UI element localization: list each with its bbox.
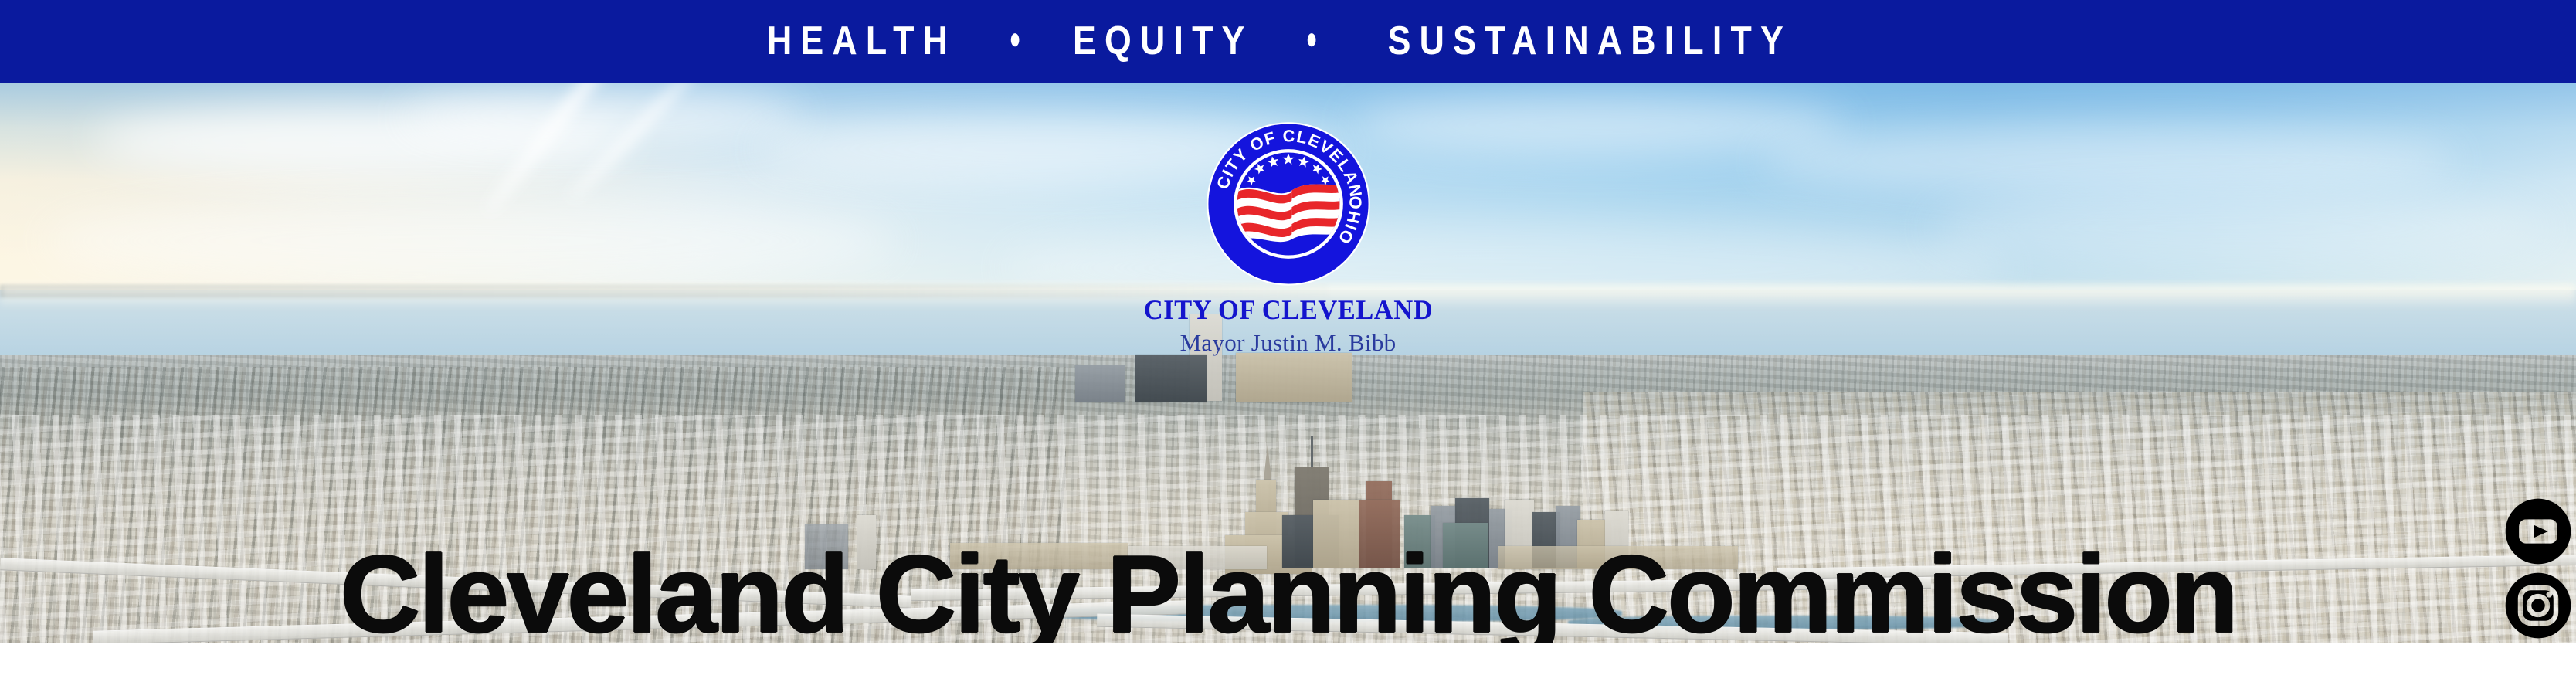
social-links-rail — [2500, 496, 2576, 643]
youtube-icon[interactable] — [2503, 496, 2574, 567]
hero-photo: CITY OF CLEVELAND OHIO — [0, 83, 2576, 643]
instagram-icon[interactable] — [2503, 570, 2574, 641]
tagline-word-equity: EQUITY — [1073, 21, 1254, 61]
building — [1075, 365, 1125, 402]
tagline-separator-dot-2: ● — [1305, 23, 1317, 54]
building — [1236, 353, 1352, 402]
tagline-banner: HEALTH ● EQUITY ● SUSTAINABILITY — [0, 0, 2576, 83]
footer-white-strip — [0, 643, 2576, 682]
page-root: HEALTH ● EQUITY ● SUSTAINABILITY — [0, 0, 2576, 682]
tagline-word-health: HEALTH — [767, 21, 956, 61]
tagline-word-sustainability: SUSTAINABILITY — [1387, 21, 1791, 61]
seal-flag — [1236, 184, 1342, 242]
page-title: Cleveland City Planning Commission — [0, 540, 2576, 643]
page-title-text: Cleveland City Planning Commission — [340, 540, 2236, 643]
tagline-separator-dot-1: ● — [1009, 23, 1020, 54]
building — [1135, 355, 1207, 402]
city-of-cleveland-seal[interactable]: CITY OF CLEVELAND OHIO — [1204, 120, 1373, 288]
terminal-tower-spire — [1264, 444, 1271, 480]
tagline-inner: HEALTH ● EQUITY ● SUSTAINABILITY — [752, 21, 1825, 61]
key-tower-antenna — [1311, 436, 1313, 469]
